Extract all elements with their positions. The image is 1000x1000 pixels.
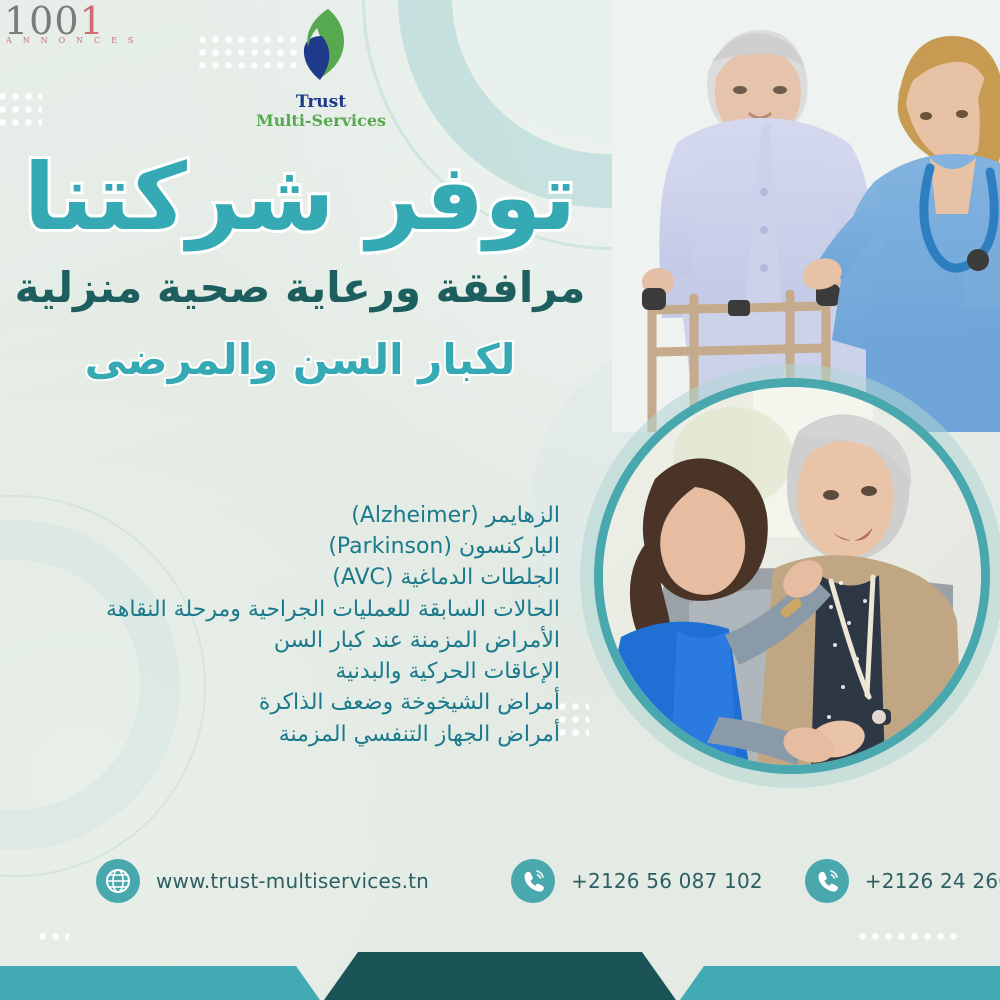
headline-line-3: لكبار السن والمرضى [0,335,600,385]
poster-canvas: 1001 A N N O N C E S Trust Multi-Service… [0,0,1000,1000]
brand-logo: Trust Multi-Services [256,6,386,129]
watermark-number: 1001 [4,2,138,40]
brand-name: Trust [256,94,386,112]
list-item: الجلطات الدماغية (AVC) [0,562,560,593]
photo-nurse-and-elderly-man [612,0,1000,432]
phone-contact-1[interactable]: +2126 56 087 102 [511,859,763,903]
list-item: الزهايمر (Alzheimer) [0,500,560,531]
headline-block: توفر شركتنا مرافقة ورعاية صحية منزلية لك… [0,150,600,385]
website-contact[interactable]: www.trust-multiservices.tn [96,859,429,903]
phone-2-text: +2126 24 266 000 [865,869,1000,893]
phone-contact-2[interactable]: +2126 24 266 000 [805,859,1000,903]
dot-grid-left-upper [0,90,42,130]
watermark: 1001 A N N O N C E S [4,2,138,45]
footer-contact-bar: www.trust-multiservices.tn +2126 56 087 … [0,848,1000,914]
phone-ring-icon [805,859,849,903]
brand-subtitle: Multi-Services [256,112,386,130]
list-item: الحالات السابقة للعمليات الجراحية ومرحلة… [0,594,560,625]
headline-line-1: توفر شركتنا [0,150,600,247]
trust-flame-icon [256,6,386,92]
website-text: www.trust-multiservices.tn [156,869,429,893]
watermark-subtitle: A N N O N C E S [4,37,138,45]
list-item: الباركنسون (Parkinson) [0,531,560,562]
list-item: الإعاقات الحركية والبدنية [0,656,560,687]
bottom-decorative-bar [0,930,1000,1000]
list-item: الأمراض المزمنة عند كبار السن [0,625,560,656]
list-item: أمراض الجهاز التنفسي المزمنة [0,719,560,750]
conditions-list: الزهايمر (Alzheimer) الباركنسون (Parkins… [0,500,578,750]
photo-nurse-and-elderly-woman [594,378,990,774]
headline-line-2: مرافقة ورعاية صحية منزلية [0,263,600,313]
list-item: أمراض الشيخوخة وضعف الذاكرة [0,687,560,718]
phone-ring-icon [511,859,555,903]
phone-1-text: +2126 56 087 102 [571,869,763,893]
globe-icon [96,859,140,903]
